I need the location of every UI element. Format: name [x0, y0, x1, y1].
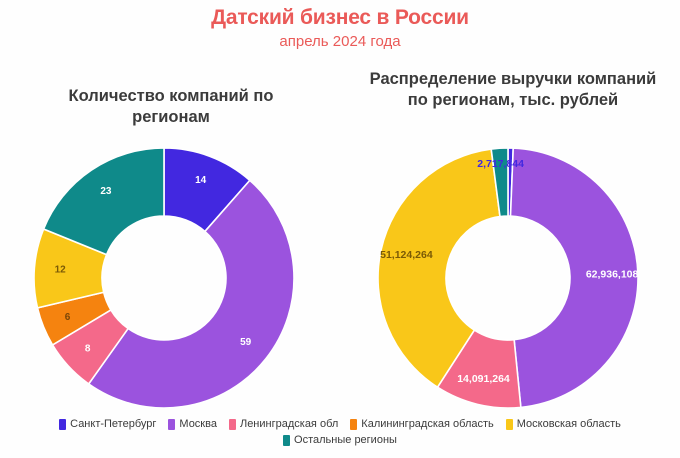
donut-slice-label: 59	[240, 337, 252, 348]
legend-item-spb[interactable]: Санкт-Петербург	[59, 418, 156, 431]
legend-swatch-moscow_obl	[506, 419, 513, 430]
donut-slice-label: 14,091,264	[457, 373, 510, 385]
chart-legend: Санкт-ПетербургМоскваЛенинградская облКа…	[0, 418, 680, 447]
legend-label-moscow: Москва	[179, 418, 217, 431]
donut-slice-label: 6	[65, 312, 71, 323]
donut-slice-label: 14	[195, 175, 207, 186]
donut-svg-companies: 1459861223	[24, 140, 314, 420]
donut-svg-revenue: 62,936,10814,091,26451,124,2642,717,844	[368, 140, 658, 420]
legend-swatch-leningrad_obl	[229, 419, 236, 430]
legend-item-leningrad_obl[interactable]: Ленинградская обл	[229, 418, 338, 431]
legend-label-other_regions: Остальные регионы	[294, 434, 397, 447]
donut-slice-label: 62,936,108	[586, 269, 639, 281]
legend-row-primary: Санкт-ПетербургМоскваЛенинградская облКа…	[0, 418, 680, 431]
page-subtitle: апрель 2024 года	[0, 33, 680, 50]
donut-slice-label: 51,124,264	[380, 249, 433, 261]
legend-swatch-kaliningrad_obl	[350, 419, 357, 430]
donut-slice-label: 2,717,844	[477, 158, 524, 170]
donut-slice-label: 23	[100, 186, 112, 197]
legend-swatch-spb	[59, 419, 66, 430]
legend-label-moscow_obl: Московская область	[517, 418, 621, 431]
legend-item-moscow[interactable]: Москва	[168, 418, 217, 431]
donut-chart-revenue: 62,936,10814,091,26451,124,2642,717,844	[368, 140, 658, 420]
donut-slice-label: 8	[85, 343, 91, 354]
donut-slice-label: 12	[55, 265, 67, 276]
chart-title-revenue: Распределение выручки компаний по регион…	[368, 69, 658, 111]
chart-title-companies: Количество компаний по регионам	[30, 86, 312, 128]
legend-label-leningrad_obl: Ленинградская обл	[240, 418, 338, 431]
infographic-page: Датский бизнес в России апрель 2024 года…	[0, 0, 680, 458]
legend-label-spb: Санкт-Петербург	[70, 418, 156, 431]
legend-item-kaliningrad_obl[interactable]: Калининградская область	[350, 418, 493, 431]
legend-swatch-other_regions	[283, 435, 290, 446]
legend-item-moscow_obl[interactable]: Московская область	[506, 418, 621, 431]
legend-label-kaliningrad_obl: Калининградская область	[361, 418, 493, 431]
legend-swatch-moscow	[168, 419, 175, 430]
page-title: Датский бизнес в России	[0, 6, 680, 30]
donut-chart-companies: 1459861223	[24, 140, 314, 420]
legend-row-secondary: Остальные регионы	[0, 434, 680, 447]
legend-item-other_regions[interactable]: Остальные регионы	[283, 434, 397, 447]
